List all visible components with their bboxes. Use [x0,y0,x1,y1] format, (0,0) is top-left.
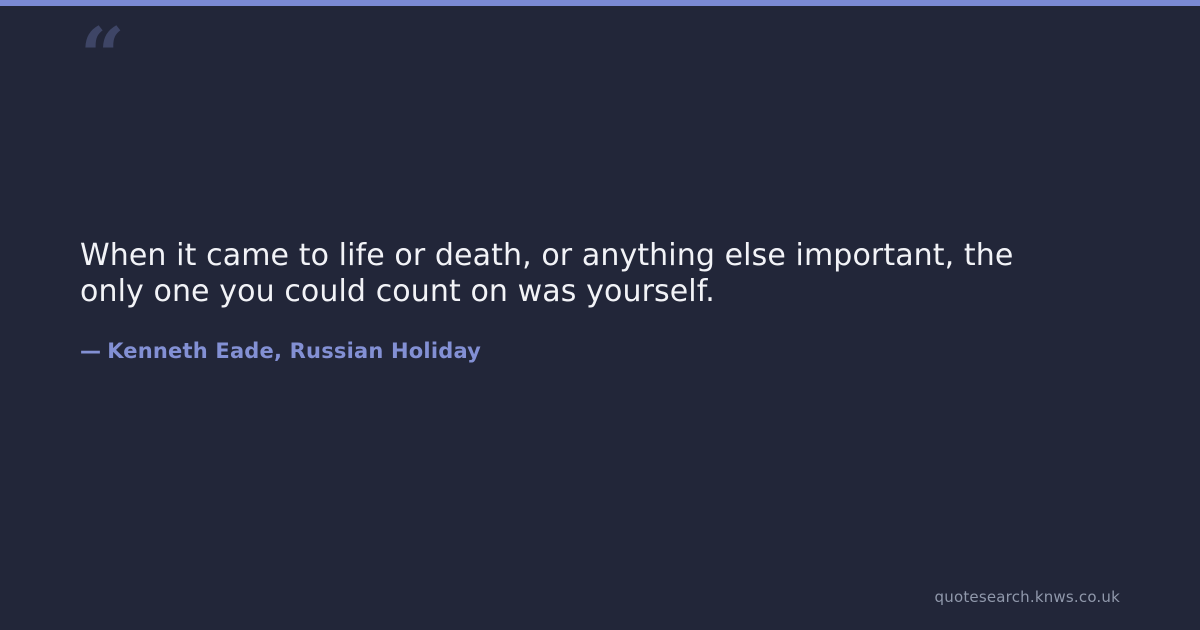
quote-mark-icon: “ [80,18,123,96]
top-accent-bar [0,0,1200,6]
attribution-dash: — [80,339,107,363]
quote-text: When it came to life or death, or anythi… [80,238,1080,310]
attribution: —Kenneth Eade, Russian Holiday [80,310,1120,363]
quote-content: When it came to life or death, or anythi… [80,238,1120,363]
quote-card: “ When it came to life or death, or anyt… [0,0,1200,630]
attribution-author-work: Kenneth Eade, Russian Holiday [107,339,481,363]
source-watermark: quotesearch.knws.co.uk [935,588,1120,606]
